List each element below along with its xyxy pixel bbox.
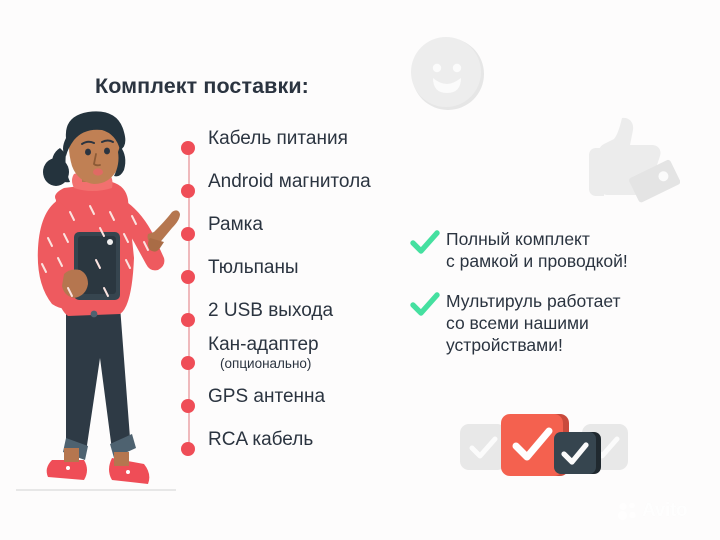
list-item-label: Кабель питания — [208, 128, 348, 150]
feature-line: Полный комплект — [446, 228, 710, 250]
feature-text: Полный комплект с рамкой и проводкой! — [446, 228, 710, 272]
page-title: Комплект поставки: — [95, 74, 309, 99]
feature-line: с рамкой и проводкой! — [446, 250, 710, 272]
list-item-label: RCA кабель — [208, 429, 313, 451]
avito-logo-icon — [618, 501, 638, 521]
woman-illustration — [8, 108, 188, 508]
kit-contents-list: Кабель питания Android магнитола Рамка Т… — [176, 133, 436, 463]
feature-text: Мультируль работает со всеми нашими устр… — [446, 290, 710, 356]
list-item-label: GPS антенна — [208, 386, 325, 408]
list-item-sublabel: (опционально) — [220, 356, 311, 371]
list-item-label: 2 USB выхода — [208, 300, 333, 322]
features-block: Полный комплект с рамкой и проводкой! Му… — [410, 228, 710, 370]
list-item-label: Android магнитола — [208, 171, 371, 193]
smiley-face-icon — [409, 35, 487, 113]
checkbox-card-icon — [460, 424, 506, 470]
avito-watermark-text: Avito — [642, 500, 687, 522]
green-check-icon — [410, 292, 440, 318]
checkbox-cards-group — [460, 410, 630, 490]
checkbox-card-gray-left — [460, 424, 506, 470]
checkbox-card-icon — [554, 432, 596, 474]
avito-watermark: Avito — [618, 500, 687, 522]
feature-item: Полный комплект с рамкой и проводкой! — [410, 228, 710, 272]
feature-item: Мультируль работает со всеми нашими устр… — [410, 290, 710, 356]
green-check-icon — [410, 230, 440, 256]
feature-line: устройствами! — [446, 334, 710, 356]
list-item-label: Кан-адаптер — [208, 334, 319, 356]
list-item-label: Рамка — [208, 214, 263, 236]
feature-line: со всеми нашими — [446, 312, 710, 334]
feature-line: Мультируль работает — [446, 290, 710, 312]
ground-line — [16, 489, 176, 491]
thumbs-up-icon — [580, 112, 680, 208]
checkbox-card-navy — [554, 432, 596, 474]
list-item-label: Тюльпаны — [208, 257, 299, 279]
